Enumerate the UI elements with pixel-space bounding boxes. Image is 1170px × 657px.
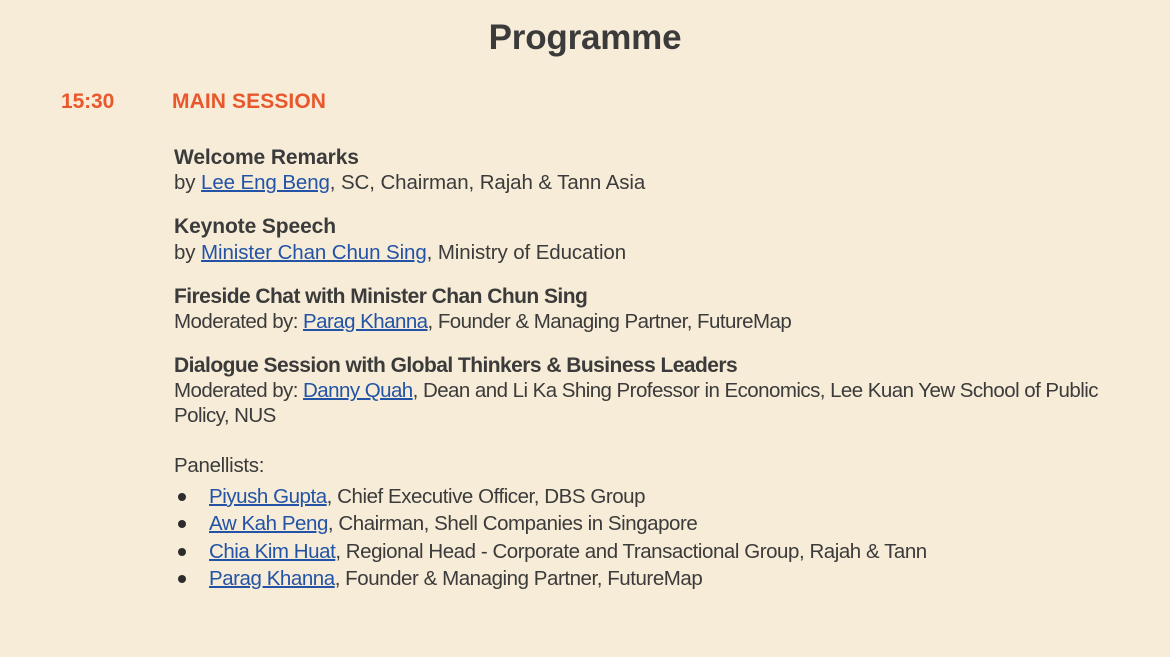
- programme-item-dialogue-session: Dialogue Session with Global Thinkers & …: [174, 354, 1114, 592]
- person-link-parag-khanna-moderator[interactable]: Parag Khanna: [303, 310, 427, 333]
- item-subtitle: by Lee Eng Beng, SC, Chairman, Rajah & T…: [174, 170, 1114, 195]
- list-item: Parag Khanna, Founder & Managing Partner…: [174, 565, 1114, 592]
- item-sub-prefix: Moderated by:: [174, 379, 303, 402]
- panellist-role: , Chief Executive Officer, DBS Group: [327, 485, 645, 508]
- page-title: Programme: [0, 19, 1170, 58]
- list-item: Piyush Gupta, Chief Executive Officer, D…: [174, 483, 1114, 510]
- bullet-icon: [178, 548, 186, 556]
- bullet-icon: [178, 520, 186, 528]
- session-name: MAIN SESSION: [172, 90, 326, 114]
- item-sub-suffix: , Ministry of Education: [427, 241, 626, 264]
- item-sub-prefix: Moderated by:: [174, 310, 303, 333]
- person-link-lee-eng-beng[interactable]: Lee Eng Beng: [201, 171, 330, 194]
- list-item: Chia Kim Huat, Regional Head - Corporate…: [174, 538, 1114, 565]
- item-subtitle: Moderated by: Danny Quah, Dean and Li Ka…: [174, 378, 1114, 428]
- item-sub-suffix: , Founder & Managing Partner, FutureMap: [428, 310, 792, 333]
- person-link-parag-khanna-panellist[interactable]: Parag Khanna: [209, 567, 335, 590]
- programme-item-fireside-chat: Fireside Chat with Minister Chan Chun Si…: [174, 285, 1114, 334]
- item-title: Dialogue Session with Global Thinkers & …: [174, 354, 1114, 378]
- panellist-role: , Chairman, Shell Companies in Singapore: [328, 512, 697, 535]
- panellists-label: Panellists:: [174, 454, 1114, 479]
- person-link-danny-quah[interactable]: Danny Quah: [303, 379, 413, 402]
- item-title: Welcome Remarks: [174, 146, 1114, 170]
- person-link-minister-chan-chun-sing[interactable]: Minister Chan Chun Sing: [201, 241, 427, 264]
- item-subtitle: by Minister Chan Chun Sing, Ministry of …: [174, 240, 1114, 265]
- person-link-chia-kim-huat[interactable]: Chia Kim Huat: [209, 540, 335, 563]
- item-sub-prefix: by: [174, 241, 201, 264]
- person-link-piyush-gupta[interactable]: Piyush Gupta: [209, 485, 327, 508]
- list-item: Aw Kah Peng, Chairman, Shell Companies i…: [174, 510, 1114, 537]
- item-sub-suffix: , SC, Chairman, Rajah & Tann Asia: [330, 171, 645, 194]
- panellist-role: , Regional Head - Corporate and Transact…: [335, 540, 926, 563]
- panellists-list: Piyush Gupta, Chief Executive Officer, D…: [174, 483, 1114, 592]
- person-link-aw-kah-peng[interactable]: Aw Kah Peng: [209, 512, 328, 535]
- bullet-icon: [178, 493, 186, 501]
- programme-item-welcome-remarks: Welcome Remarks by Lee Eng Beng, SC, Cha…: [174, 146, 1114, 195]
- item-title: Keynote Speech: [174, 215, 1114, 239]
- bullet-icon: [178, 575, 186, 583]
- item-subtitle: Moderated by: Parag Khanna, Founder & Ma…: [174, 309, 1114, 334]
- panellist-role: , Founder & Managing Partner, FutureMap: [335, 567, 703, 590]
- programme-body: Welcome Remarks by Lee Eng Beng, SC, Cha…: [174, 146, 1114, 592]
- item-title: Fireside Chat with Minister Chan Chun Si…: [174, 285, 1114, 309]
- panellists-section: Panellists: Piyush Gupta, Chief Executiv…: [174, 454, 1114, 592]
- session-header-row: 15:30 MAIN SESSION: [0, 90, 1170, 118]
- item-sub-prefix: by: [174, 171, 201, 194]
- programme-item-keynote-speech: Keynote Speech by Minister Chan Chun Sin…: [174, 215, 1114, 264]
- programme-slide: Programme 15:30 MAIN SESSION Welcome Rem…: [0, 0, 1170, 657]
- session-time: 15:30: [61, 90, 114, 114]
